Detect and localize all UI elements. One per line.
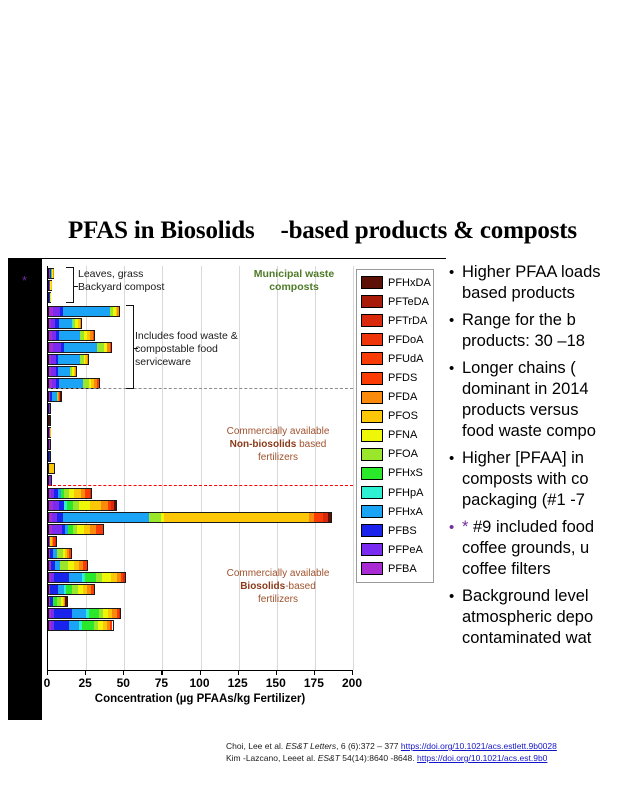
legend-swatch xyxy=(361,429,383,442)
bar-segment xyxy=(49,452,50,461)
legend-swatch xyxy=(361,276,383,289)
chart-bar xyxy=(48,560,88,571)
page-title: PFAS in Biosolids-based products & compo… xyxy=(68,216,618,246)
legend-item[interactable]: PFHxDA xyxy=(361,273,430,292)
citation-journal: ES&T Letters xyxy=(286,741,337,751)
x-axis-tick-label: 0 xyxy=(44,676,51,690)
bar-segment xyxy=(93,331,94,340)
annotation-nonbio-tail: based xyxy=(296,439,326,450)
chart-bar xyxy=(48,280,52,291)
bar-segment xyxy=(87,355,88,364)
x-axis-tick-label: 50 xyxy=(117,676,130,690)
legend-label: PFHxS xyxy=(388,467,423,479)
bullet-line: Longer chains ( xyxy=(462,358,618,379)
x-axis-tick xyxy=(200,670,201,675)
bullet-list: •Higher PFAA loadsbased products•Range f… xyxy=(448,262,618,655)
annotation-bio-line3: fertilizers xyxy=(208,593,348,606)
bullet-line: products: 30 –18 xyxy=(462,331,618,352)
bar-segment xyxy=(53,307,60,316)
chart-bar xyxy=(48,391,62,402)
bar-segment xyxy=(69,549,71,558)
bullet-line: composts with co xyxy=(462,469,618,490)
bar-segment xyxy=(60,561,69,570)
bar-segment xyxy=(80,319,81,328)
citation-line: Choi, Lee et al. ES&T Letters, 6 (6):372… xyxy=(226,740,618,752)
chart-bar xyxy=(48,524,104,535)
legend-item[interactable]: PFUdA xyxy=(361,349,430,368)
annotation-bio-line1: Commercially available xyxy=(208,567,348,580)
gridline xyxy=(239,266,240,670)
slide-canvas: PFAS in Biosolids-based products & compo… xyxy=(0,0,618,800)
annotation-bio-tail: -based xyxy=(285,581,316,592)
citation-etal: Leeet al. xyxy=(283,753,316,763)
annotation-leaves-line2: Backyard compost xyxy=(78,281,164,294)
stacked-bar-chart xyxy=(47,266,352,670)
x-axis-tick xyxy=(85,670,86,675)
legend-swatch xyxy=(361,391,383,404)
legend-label: PFDS xyxy=(388,372,417,384)
bar-segment xyxy=(50,476,51,485)
title-main: PFAS in Biosolids xyxy=(68,217,254,244)
citation-pages: – 377 xyxy=(377,741,398,751)
bullet-item: •Background levelatmospheric depocontami… xyxy=(448,586,618,649)
figure-left-black-strip xyxy=(8,258,42,720)
bar-segment xyxy=(50,585,57,594)
legend-swatch xyxy=(361,295,383,308)
bar-segment xyxy=(101,501,108,510)
bullet-item: •Longer chains (dominant in 2014products… xyxy=(448,358,618,442)
bar-segment xyxy=(50,428,51,437)
bar-segment xyxy=(49,416,50,425)
bar-segment xyxy=(164,513,309,522)
chart-bar xyxy=(48,306,120,317)
citation-journal: ES&T xyxy=(318,753,340,763)
bullet-item: •* #9 included foodcoffee grounds, ucoff… xyxy=(448,517,618,580)
citation-author: Kim -Lazcano, xyxy=(226,753,280,763)
legend-swatch xyxy=(361,562,383,575)
bar-segment xyxy=(89,609,99,618)
bar-segment xyxy=(58,355,80,364)
chart-legend: PFHxDAPFTeDAPFTrDAPFDoAPFUdAPFDSPFDAPFOS… xyxy=(356,269,434,583)
legend-label: PFUdA xyxy=(388,353,423,365)
bar-segment xyxy=(90,501,100,510)
legend-item[interactable]: PFPeA xyxy=(361,540,430,559)
bar-segment xyxy=(110,621,112,630)
legend-swatch xyxy=(361,448,383,461)
legend-item[interactable]: PFBA xyxy=(361,559,430,578)
bar-segment xyxy=(149,513,161,522)
chart-bar xyxy=(48,512,332,523)
bullet-line: coffee grounds, u xyxy=(462,538,618,559)
bullet-line: Higher [PFAA] in xyxy=(462,448,618,469)
group-bracket xyxy=(126,305,134,389)
legend-label: PFDA xyxy=(388,391,417,403)
annotation-nonbio-bold: Non-biosolids xyxy=(230,439,297,450)
legend-item[interactable]: PFBS xyxy=(361,521,430,540)
group-bracket xyxy=(66,267,74,303)
chart-bar xyxy=(48,330,95,341)
bar-segment xyxy=(97,343,104,352)
bar-segment xyxy=(114,501,115,510)
bar-segment xyxy=(59,379,82,388)
x-axis-tick-label: 75 xyxy=(155,676,168,690)
chart-bar xyxy=(48,292,51,303)
x-axis-tick xyxy=(161,670,162,675)
legend-item[interactable]: PFHxS xyxy=(361,464,430,483)
bullet-marker: • xyxy=(449,517,454,538)
bar-segment xyxy=(102,573,111,582)
chart-bar xyxy=(48,318,82,329)
bullet-item: •Range for the bproducts: 30 –18 xyxy=(448,310,618,352)
chart-bar xyxy=(48,572,126,583)
annotation-biosolids-fertilizers: Commercially available Biosolids-based f… xyxy=(208,567,348,606)
bar-segment xyxy=(54,573,69,582)
bar-segment xyxy=(53,343,60,352)
bar-segment xyxy=(85,573,95,582)
gridline xyxy=(201,266,202,670)
legend-item[interactable]: PFDA xyxy=(361,388,430,407)
legend-swatch xyxy=(361,314,383,327)
bullet-line: Range for the b xyxy=(462,310,618,331)
x-axis-tick xyxy=(238,670,239,675)
citation-volume: , 6 (6):372 xyxy=(336,741,375,751)
bullet-item: •Higher PFAA loadsbased products xyxy=(448,262,618,304)
bar-segment xyxy=(59,319,72,328)
chart-bar xyxy=(48,439,51,450)
title-rest: -based products & composts xyxy=(280,217,576,244)
bar-segment xyxy=(52,525,62,534)
annotation-leaves-line1: Leaves, grass xyxy=(78,268,164,281)
bar-segment xyxy=(63,513,149,522)
legend-label: PFNA xyxy=(388,429,417,441)
bar-segment xyxy=(119,609,120,618)
x-axis-tick-label: 150 xyxy=(266,676,286,690)
citation-author: Choi, xyxy=(226,741,246,751)
bullet-marker: • xyxy=(449,448,454,469)
chart-bar xyxy=(48,500,117,511)
chart-bar xyxy=(48,403,51,414)
annotation-municipal-waste-composts: Municipal waste composts xyxy=(240,268,348,294)
bar-segment xyxy=(59,331,79,340)
legend-item[interactable]: PFOA xyxy=(361,445,430,464)
annotation-food-line1: Includes food waste & xyxy=(135,330,238,343)
chart-bar xyxy=(48,451,51,462)
legend-swatch xyxy=(361,486,383,499)
chart-bar xyxy=(48,354,89,365)
citation-doi-link[interactable]: https://doi.org/10.1021/acs.est.9b0 xyxy=(417,753,547,763)
gridline xyxy=(315,266,316,670)
citation-pages: -8648. xyxy=(391,753,415,763)
bar-segment xyxy=(58,367,69,376)
citation-line: Kim -Lazcano, Leeet al. ES&T 54(14):8640… xyxy=(226,752,618,764)
bar-segment xyxy=(123,573,124,582)
legend-item[interactable]: PFOS xyxy=(361,407,430,426)
chart-bar xyxy=(48,536,57,547)
x-axis-tick-label: 100 xyxy=(189,676,209,690)
chart-bar xyxy=(48,584,95,595)
citation-etal: Lee et al. xyxy=(248,741,283,751)
bar-segment xyxy=(55,537,56,546)
bar-segment xyxy=(64,343,97,352)
bullet-line: products versus xyxy=(462,400,618,421)
citation-volume: 54(14):8640 xyxy=(340,753,388,763)
chart-bar xyxy=(48,548,72,559)
legend-swatch xyxy=(361,467,383,480)
legend-item[interactable]: PFDoA xyxy=(361,330,430,349)
bar-segment xyxy=(97,379,98,388)
bar-segment xyxy=(49,404,50,413)
annotation-nonbio-line2: Non-biosolids based xyxy=(208,438,348,451)
legend-item[interactable]: PFHxA xyxy=(361,502,430,521)
bullet-line: contaminated wat xyxy=(462,628,618,649)
annotation-bio-bold: Biosolids xyxy=(240,581,285,592)
legend-swatch xyxy=(361,410,383,423)
legend-label: PFHxA xyxy=(388,506,423,518)
legend-label: PFPeA xyxy=(388,544,423,556)
legend-item[interactable]: PFHpA xyxy=(361,483,430,502)
bar-segment xyxy=(49,464,54,473)
legend-swatch xyxy=(361,352,383,365)
chart-bar xyxy=(48,268,54,279)
x-axis-tick-label: 200 xyxy=(342,676,362,690)
legend-label: PFBS xyxy=(388,525,417,537)
x-axis-tick xyxy=(352,670,353,675)
x-axis-title: Concentration (µg PFAAs/kg Fertilizer) xyxy=(47,693,353,705)
bar-segment xyxy=(54,621,69,630)
legend-label: PFOS xyxy=(388,410,418,422)
x-axis-tick xyxy=(276,670,277,675)
citation-doi-link[interactable]: https://doi.org/10.1021/acs.estlett.9b00… xyxy=(401,741,557,751)
bar-segment xyxy=(110,343,111,352)
bar-segment xyxy=(54,609,71,618)
x-axis-tick xyxy=(123,670,124,675)
legend-item[interactable]: PFTrDA xyxy=(361,311,430,330)
bullet-item: •Higher [PFAA] incomposts with copackagi… xyxy=(448,448,618,511)
bar-segment xyxy=(93,585,94,594)
legend-label: PFHpA xyxy=(388,487,423,499)
chart-bar xyxy=(48,608,121,619)
bar-segment xyxy=(100,525,103,534)
bullet-marker: • xyxy=(449,358,454,379)
bullet-line: based products xyxy=(462,283,618,304)
bullet-marker: • xyxy=(449,262,454,283)
citation-block: Choi, Lee et al. ES&T Letters, 6 (6):372… xyxy=(226,740,618,764)
legend-label: PFHxDA xyxy=(388,277,431,289)
bar-segment xyxy=(79,501,91,510)
legend-swatch xyxy=(361,505,383,518)
chart-bar xyxy=(48,620,114,631)
bullet-line: packaging (#1 -7 xyxy=(462,490,618,511)
bar-segment xyxy=(49,440,50,449)
gridline xyxy=(277,266,278,670)
group-separator xyxy=(48,388,353,389)
bullet-line: * #9 included food xyxy=(462,517,618,538)
legend-item[interactable]: PFNA xyxy=(361,426,430,445)
bullet-marker: • xyxy=(449,310,454,331)
legend-swatch xyxy=(361,524,383,537)
bullet-marker: • xyxy=(449,586,454,607)
legend-swatch xyxy=(361,543,383,556)
chart-bar xyxy=(48,463,55,474)
annotation-bio-line2: Biosolids-based xyxy=(208,580,348,593)
bar-segment xyxy=(72,609,87,618)
annotation-leaves-grass: Leaves, grass Backyard compost xyxy=(78,268,164,294)
bar-segment xyxy=(63,307,110,316)
bullet-line: dominant in 2014 xyxy=(462,379,618,400)
bullet-line: Background level xyxy=(462,586,618,607)
legend-label: PFTeDA xyxy=(388,296,429,308)
annotation-municipal-line1: Municipal waste xyxy=(240,268,348,281)
chart-bar xyxy=(48,427,51,438)
bar-segment xyxy=(85,561,86,570)
x-axis-tick-label: 125 xyxy=(228,676,248,690)
bullet-line: food waste compo xyxy=(462,421,618,442)
annotation-food-waste: Includes food waste & compostable food s… xyxy=(135,330,238,369)
legend-item[interactable]: PFTeDA xyxy=(361,292,430,311)
legend-label: PFBA xyxy=(388,563,417,575)
gridline xyxy=(162,266,163,670)
chart-bar xyxy=(48,366,77,377)
chart-bar xyxy=(48,415,51,426)
group-separator-red xyxy=(48,485,353,486)
x-axis-tick-label: 175 xyxy=(304,676,324,690)
bar-segment xyxy=(328,513,331,522)
annotation-food-line2: compostable food xyxy=(135,343,238,356)
annotation-nonbio-line1: Commercially available xyxy=(208,425,348,438)
annotation-municipal-line2: composts xyxy=(240,281,348,294)
annotation-non-biosolids-fertilizers: Commercially available Non-biosolids bas… xyxy=(208,425,348,464)
bar-segment xyxy=(69,621,79,630)
gridline xyxy=(353,266,354,670)
chart-bar xyxy=(48,488,92,499)
annotation-nonbio-line3: fertilizers xyxy=(208,451,348,464)
bar-segment xyxy=(77,525,84,534)
x-axis-tick xyxy=(47,670,48,675)
legend-swatch xyxy=(361,372,383,385)
x-axis-tick xyxy=(314,670,315,675)
bar-segment xyxy=(117,307,118,316)
legend-label: PFOA xyxy=(388,448,418,460)
chart-bar xyxy=(48,342,112,353)
bullet-line: coffee filters xyxy=(462,559,618,580)
bar-segment xyxy=(75,367,76,376)
x-axis-tick-label: 25 xyxy=(78,676,91,690)
legend-label: PFTrDA xyxy=(388,315,427,327)
bullet-asterisk: * xyxy=(462,518,468,536)
asterisk-marker: * xyxy=(22,276,27,286)
bar-segment xyxy=(69,573,82,582)
annotation-food-line3: serviceware xyxy=(135,356,238,369)
bar-segment xyxy=(82,621,94,630)
bullet-line: atmospheric depo xyxy=(462,607,618,628)
bullet-line: Higher PFAA loads xyxy=(462,262,618,283)
bar-segment xyxy=(74,489,81,498)
legend-item[interactable]: PFDS xyxy=(361,368,430,387)
legend-swatch xyxy=(361,333,383,346)
chart-bar xyxy=(48,596,68,607)
bar-segment xyxy=(90,489,91,498)
bar-segment xyxy=(65,597,66,606)
legend-label: PFDoA xyxy=(388,334,423,346)
